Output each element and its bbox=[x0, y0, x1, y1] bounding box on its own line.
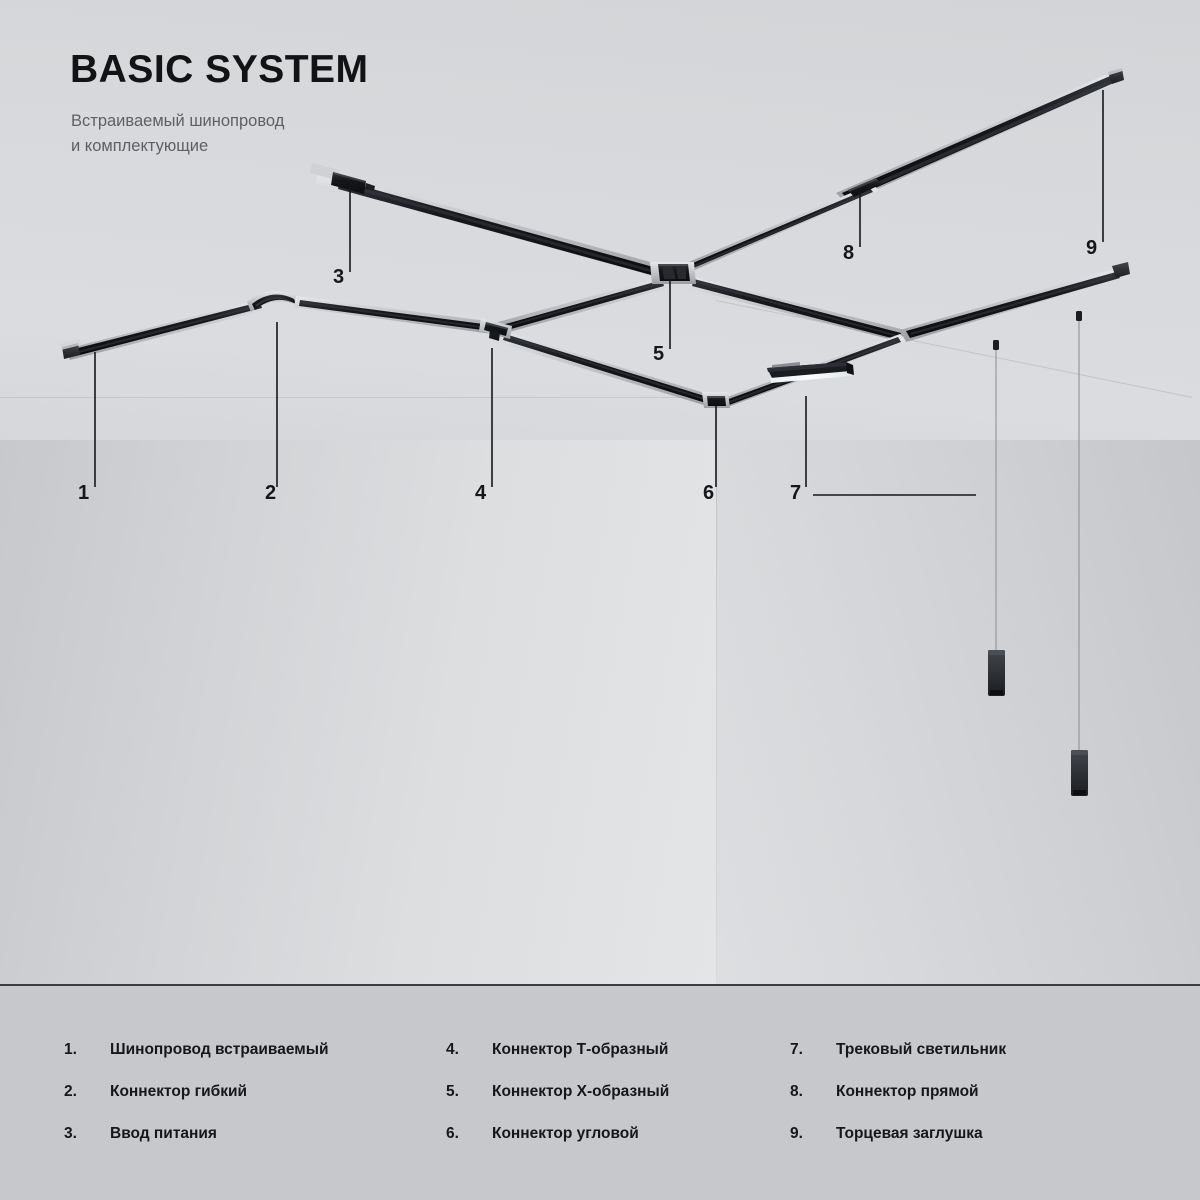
legend-item-9: 9.Торцевая заглушка bbox=[780, 1125, 1200, 1167]
legend-item-number: 3. bbox=[64, 1125, 110, 1143]
legend-item-number: 5. bbox=[446, 1083, 492, 1101]
legend-item-number: 4. bbox=[446, 1041, 492, 1059]
callout-number-5: 5 bbox=[653, 344, 664, 364]
pendant-spot-1 bbox=[988, 340, 1005, 696]
legend-item-5: 5.Коннектор Х-образный bbox=[408, 1083, 780, 1125]
callout-number-8: 8 bbox=[843, 243, 854, 263]
callout-number-4: 4 bbox=[475, 483, 486, 503]
flexible-connector bbox=[247, 291, 300, 312]
subtitle-line-1: Встраиваемый шинопровод bbox=[71, 109, 284, 134]
subtitle-line-2: и комплектующие bbox=[71, 134, 284, 159]
legend-item-6: 6.Коннектор угловой bbox=[408, 1125, 780, 1167]
legend-column-3: 7.Трековый светильник8.Коннектор прямой9… bbox=[780, 1041, 1200, 1167]
callout-number-6: 6 bbox=[703, 483, 714, 503]
legend-item-2: 2.Коннектор гибкий bbox=[0, 1083, 408, 1125]
callout-number-7: 7 bbox=[790, 483, 801, 503]
legend-item-number: 9. bbox=[790, 1125, 836, 1143]
callout-number-2: 2 bbox=[265, 483, 276, 503]
linear-track-luminaire bbox=[767, 362, 854, 383]
legend-item-1: 1.Шинопровод встраиваемый bbox=[0, 1041, 408, 1083]
page-subtitle: Встраиваемый шинопровод и комплектующие bbox=[71, 109, 284, 159]
callout-number-9: 9 bbox=[1086, 238, 1097, 258]
track-run-x-to-t bbox=[498, 276, 668, 334]
legend-item-label: Коннектор Т-образный bbox=[492, 1041, 668, 1059]
legend-item-label: Коннектор прямой bbox=[836, 1083, 979, 1101]
angle-connector bbox=[702, 392, 730, 408]
track-run-t-to-corner bbox=[496, 330, 714, 407]
legend-item-number: 2. bbox=[64, 1083, 110, 1101]
legend-item-number: 8. bbox=[790, 1083, 836, 1101]
callout-number-3: 3 bbox=[333, 267, 344, 287]
legend-item-number: 1. bbox=[64, 1041, 110, 1059]
legend-item-3: 3.Ввод питания bbox=[0, 1125, 408, 1167]
page-title: BASIC SYSTEM bbox=[70, 48, 369, 92]
callout-number-1: 1 bbox=[78, 483, 89, 503]
legend-grid: 1.Шинопровод встраиваемый2.Коннектор гиб… bbox=[0, 986, 1200, 1200]
legend-column-1: 1.Шинопровод встраиваемый2.Коннектор гиб… bbox=[0, 1041, 408, 1167]
legend-item-label: Трековый светильник bbox=[836, 1041, 1006, 1059]
track-run-right-pendants bbox=[900, 262, 1130, 342]
legend-column-2: 4.Коннектор Т-образный5.Коннектор Х-обра… bbox=[408, 1041, 780, 1167]
legend-item-label: Шинопровод встраиваемый bbox=[110, 1041, 329, 1059]
legend-item-label: Ввод питания bbox=[110, 1125, 217, 1143]
poster-canvas: 123456789 BASIC SYSTEM Встраиваемый шино… bbox=[0, 0, 1200, 1200]
legend-item-label: Коннектор гибкий bbox=[110, 1083, 247, 1101]
track-run-x-to-right bbox=[686, 276, 905, 342]
track-run-bend-to-t bbox=[294, 296, 494, 334]
legend-item-4: 4.Коннектор Т-образный bbox=[408, 1041, 780, 1083]
legend-item-8: 8.Коннектор прямой bbox=[780, 1083, 1200, 1125]
legend-item-label: Коннектор угловой bbox=[492, 1125, 639, 1143]
legend-item-number: 6. bbox=[446, 1125, 492, 1143]
legend-panel: 1.Шинопровод встраиваемый2.Коннектор гиб… bbox=[0, 986, 1200, 1200]
legend-item-label: Торцевая заглушка bbox=[836, 1125, 983, 1143]
track-run-left bbox=[60, 299, 266, 360]
legend-item-7: 7.Трековый светильник bbox=[780, 1041, 1200, 1083]
legend-item-label: Коннектор Х-образный bbox=[492, 1083, 669, 1101]
x-connector bbox=[650, 262, 696, 284]
pendant-spot-2 bbox=[1071, 311, 1088, 796]
legend-item-number: 7. bbox=[790, 1041, 836, 1059]
